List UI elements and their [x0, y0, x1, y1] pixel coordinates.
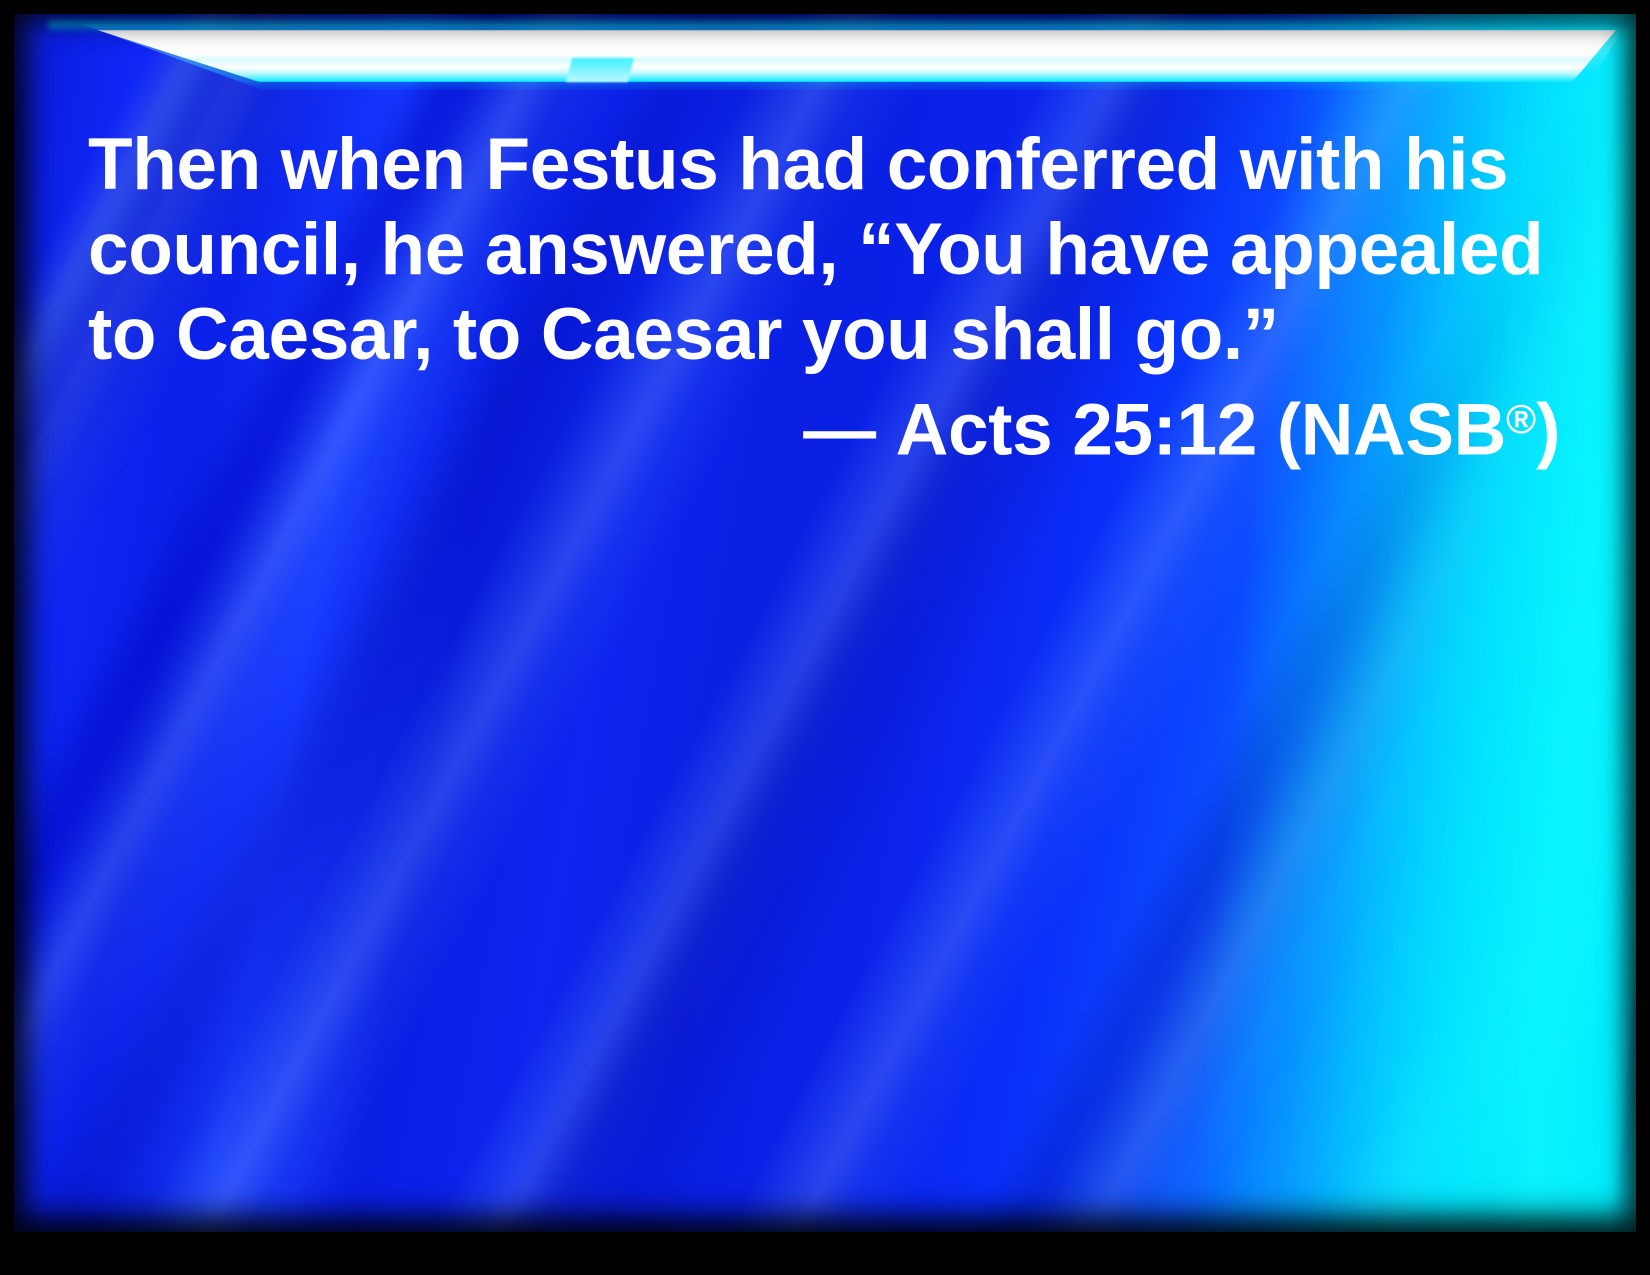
scripture-slide: Then when Festus had conferred with his … [0, 0, 1650, 1275]
verse-line-3: to Caesar, to Caesar you shall go.” [88, 292, 1568, 377]
verse-line-2: council, he answered, “You have appealed [88, 207, 1568, 292]
top-band-cyan-edge [48, 20, 1628, 30]
top-highlight-band [14, 14, 1636, 94]
attribution-translation: (NASB [1277, 389, 1506, 470]
verse-attribution: — Acts 25:12 (NASB®) [88, 377, 1568, 472]
attribution-book: Acts [896, 389, 1053, 470]
attribution-reference: 25:12 [1072, 389, 1257, 470]
verse-line-1: Then when Festus had conferred with his [88, 122, 1568, 207]
attribution-dash: — [803, 389, 876, 470]
registered-trademark-icon: ® [1506, 396, 1536, 442]
top-band-notch [566, 58, 634, 82]
slide-canvas: Then when Festus had conferred with his … [14, 14, 1636, 1232]
attribution-paren-close: ) [1536, 389, 1560, 470]
verse-text-block: Then when Festus had conferred with his … [88, 122, 1568, 472]
top-band-white-core [60, 30, 1616, 82]
